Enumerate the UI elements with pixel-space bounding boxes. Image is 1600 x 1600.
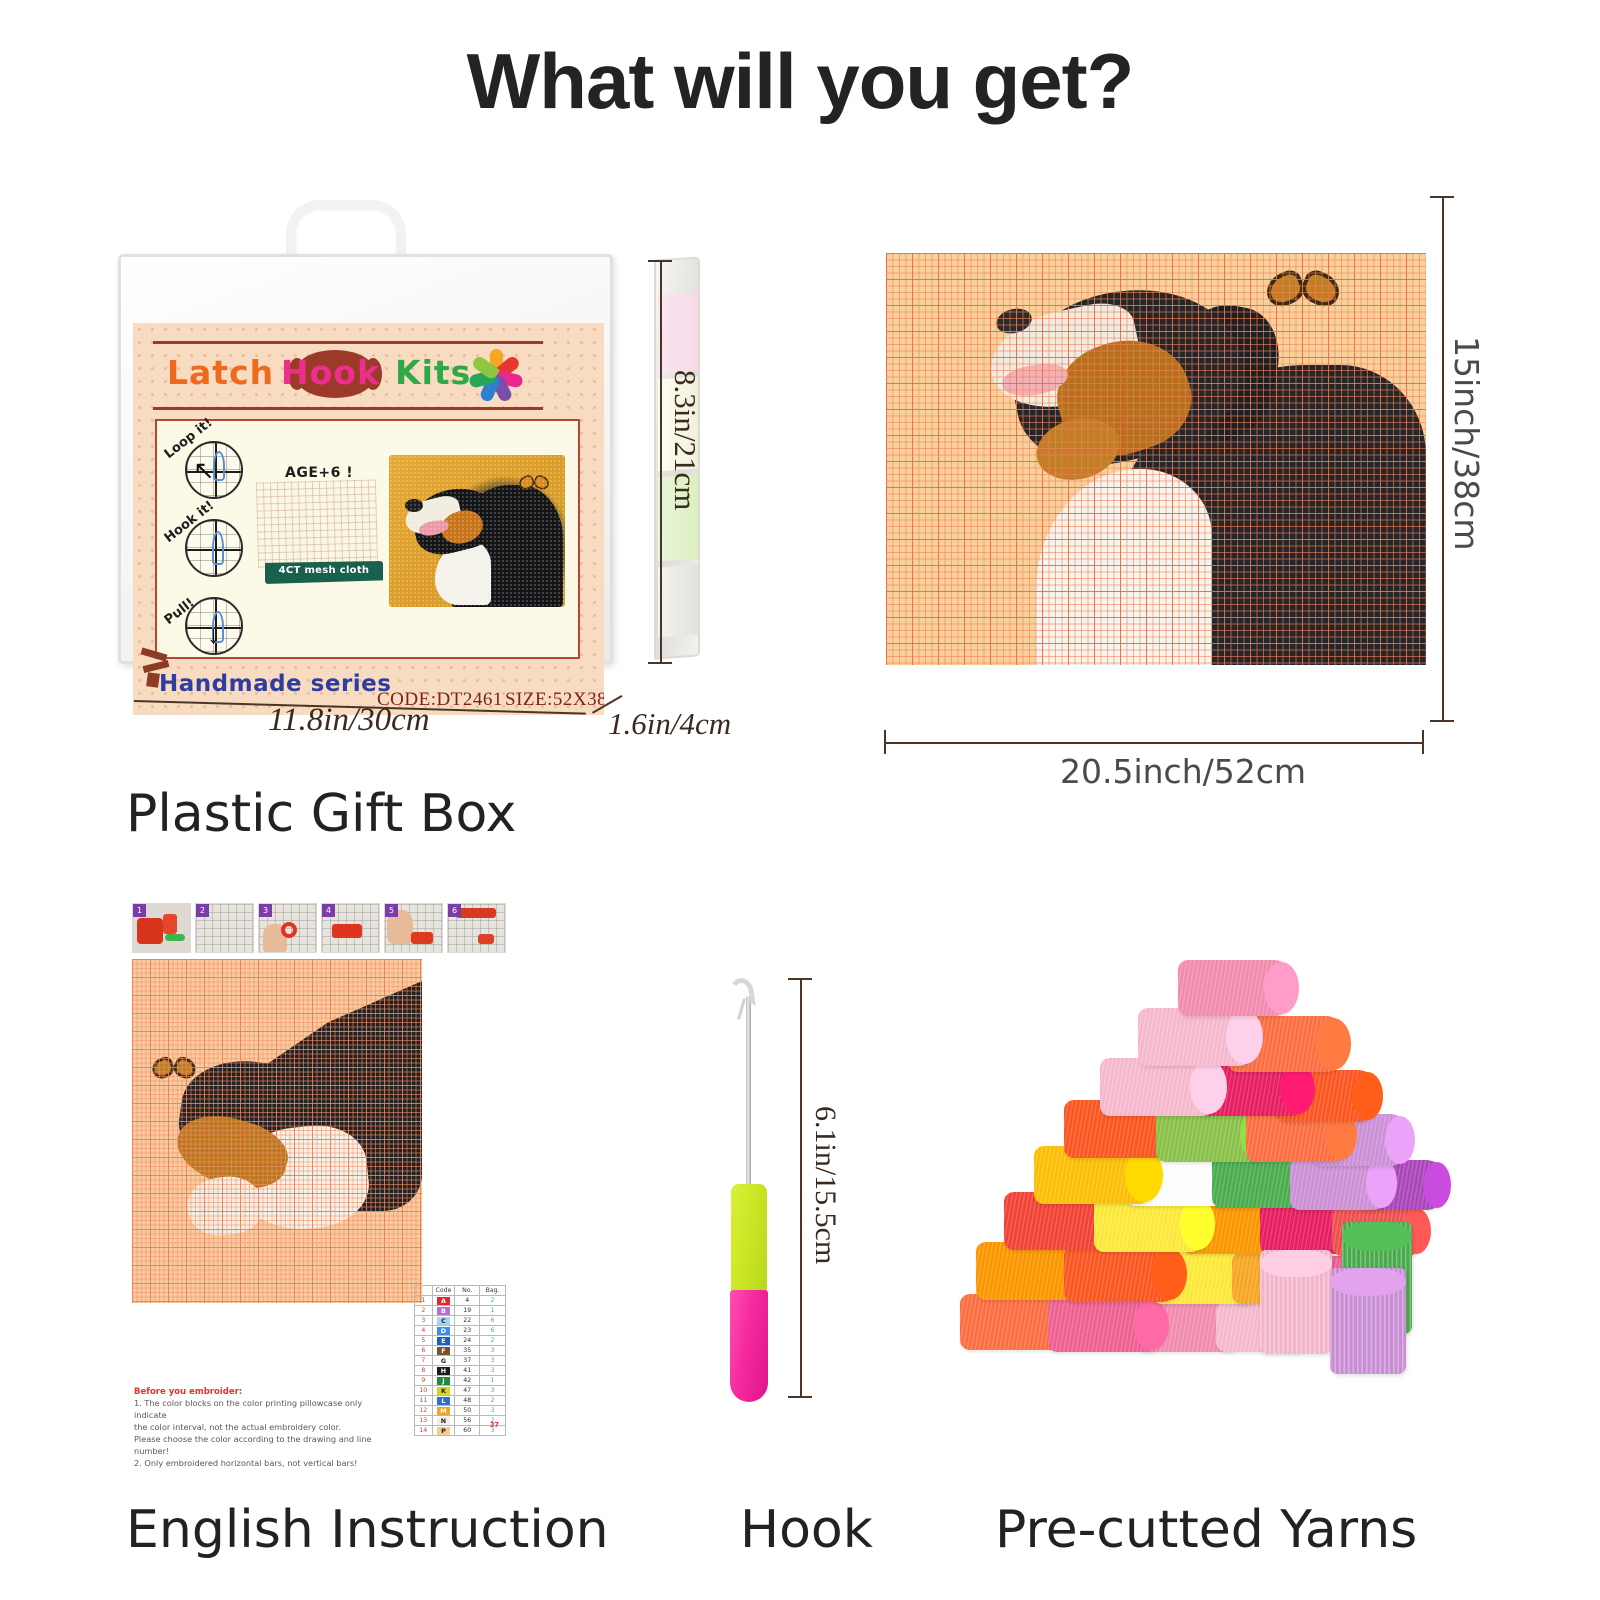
table-row: 7G373 — [415, 1356, 506, 1366]
cell-bag: 2 — [480, 1396, 506, 1406]
yarn-bundle — [1100, 1058, 1224, 1116]
cell-code: M — [432, 1406, 455, 1416]
yarn-bundle-standing — [1260, 1250, 1332, 1354]
pre-cutted-yarns-image — [960, 950, 1450, 1400]
cell-index: 4 — [415, 1326, 433, 1336]
color-code-table: Code No. Bag. 1A422B1913C2264D2365E2426F… — [414, 1285, 506, 1436]
dim-line-box-height — [660, 260, 662, 664]
cell-code: F — [432, 1346, 455, 1356]
dim-cap — [884, 730, 886, 754]
thumbnail-number: 6 — [448, 904, 461, 917]
dim-text-box-width: 11.8in/30cm — [268, 702, 430, 739]
cell-code: J — [432, 1376, 455, 1386]
box-cover-artwork: Latch Hook Kits Loop it! — [133, 323, 604, 715]
cell-index: 2 — [415, 1306, 433, 1316]
hook-grip-lower — [730, 1290, 768, 1402]
step-thumbnail-strip: 1 2 3 4 — [132, 903, 506, 955]
step-diagram-hook — [185, 519, 243, 577]
instruction-pattern-chart — [132, 959, 422, 1303]
yarn-bundle-standing — [1330, 1268, 1406, 1374]
step-thumbnail: 4 — [321, 903, 380, 953]
cell-code: E — [432, 1336, 455, 1346]
cell-index: 8 — [415, 1366, 433, 1376]
table-row: 1A42 — [415, 1296, 506, 1306]
cell-code: A — [432, 1296, 455, 1306]
product-size-text: SIZE:52X38CM — [505, 689, 604, 711]
step-diagram-loop: ↖ — [185, 441, 243, 499]
cell-index: 12 — [415, 1406, 433, 1416]
cover-inner-panel: Loop it! ↖ Hook it! Pull! — [155, 419, 580, 659]
dim-text-box-height: 8.3in/21cm — [667, 370, 703, 510]
th-number: No. — [455, 1286, 480, 1296]
cell-number: 22 — [455, 1316, 480, 1326]
table-row: 8H413 — [415, 1366, 506, 1376]
cell-bag: 1 — [480, 1306, 506, 1316]
cell-index: 10 — [415, 1386, 433, 1396]
cell-bag: 6 — [480, 1326, 506, 1336]
spine-band — [658, 565, 698, 638]
mesh-ribbon-label: 4CT mesh cloth — [265, 565, 383, 576]
printed-canvas-image — [886, 253, 1426, 665]
cell-bag: 3 — [480, 1386, 506, 1396]
divider-rule — [153, 407, 543, 410]
notes-line: Please choose the color according to the… — [134, 1434, 386, 1458]
infographic-root: What will you get? Latch Hook Kits — [0, 0, 1600, 1600]
cell-bag: 3 — [480, 1346, 506, 1356]
table-row: 5E242 — [415, 1336, 506, 1346]
th-bag: Bag. — [480, 1286, 506, 1296]
table-row: 10K473 — [415, 1386, 506, 1396]
dim-cap — [648, 260, 672, 262]
notes-line: 2. Only embroidered horizontal bars, not… — [134, 1458, 386, 1470]
step-thumbnail: 1 — [132, 903, 191, 953]
page-title: What will you get? — [0, 36, 1600, 127]
label-plastic-gift-box: Plastic Gift Box — [126, 784, 516, 844]
cell-number: 47 — [455, 1386, 480, 1396]
cell-number: 4 — [455, 1296, 480, 1306]
step-thumbnail: 2 — [195, 903, 254, 953]
logo-word-kits: Kits — [395, 353, 471, 392]
step-thumbnail: 3 — [258, 903, 317, 953]
cell-bag: 2 — [480, 1336, 506, 1346]
logo-word-hook: Hook — [281, 353, 380, 392]
table-row: 2B191 — [415, 1306, 506, 1316]
cell-number: 48 — [455, 1396, 480, 1406]
cell-number: 42 — [455, 1376, 480, 1386]
cell-code: G — [432, 1356, 455, 1366]
cell-code: D — [432, 1326, 455, 1336]
thumbnail-number: 4 — [322, 904, 335, 917]
table-row: 6F353 — [415, 1346, 506, 1356]
spine-band — [658, 293, 698, 374]
yarn-bundle — [1064, 1246, 1184, 1302]
thumbnail-number: 3 — [259, 904, 272, 917]
cell-code: B — [432, 1306, 455, 1316]
cell-code: H — [432, 1366, 455, 1376]
cell-index: 11 — [415, 1396, 433, 1406]
thumbnail-number: 5 — [385, 904, 398, 917]
cell-index: 3 — [415, 1316, 433, 1326]
step-diagram-pull: ↓ — [185, 597, 243, 655]
cell-code: C — [432, 1316, 455, 1326]
thumbnail-number: 1 — [133, 904, 146, 917]
cell-code: L — [432, 1396, 455, 1406]
label-english-instruction: English Instruction — [126, 1500, 609, 1560]
table-row: 9J421 — [415, 1376, 506, 1386]
hook-grip-upper — [731, 1184, 767, 1292]
cell-number: 41 — [455, 1366, 480, 1376]
label-hook: Hook — [740, 1500, 873, 1560]
cell-index: 7 — [415, 1356, 433, 1366]
cell-number: 24 — [455, 1336, 480, 1346]
step-thumbnail: 6 — [447, 903, 506, 953]
dim-cap — [788, 978, 812, 980]
english-instruction-image: 1 2 3 4 — [126, 903, 506, 1483]
cell-bag: 2 — [480, 1296, 506, 1306]
hook-shaft — [746, 996, 751, 1194]
cell-bag: 6 — [480, 1316, 506, 1326]
yarn-bundle — [1048, 1298, 1166, 1352]
dim-cap — [1430, 196, 1454, 198]
dim-cap — [648, 662, 672, 664]
dim-cap — [1430, 720, 1454, 722]
cell-bag: 3 — [480, 1356, 506, 1366]
divider-rule — [153, 341, 543, 344]
cell-index: 6 — [415, 1346, 433, 1356]
cell-index: 9 — [415, 1376, 433, 1386]
cell-index: 5 — [415, 1336, 433, 1346]
logo-word-latch: Latch — [167, 353, 274, 392]
cell-bag: 1 — [480, 1376, 506, 1386]
dim-line-canvas-width — [884, 742, 1424, 744]
cell-number: 37 — [455, 1356, 480, 1366]
table-row: 4D236 — [415, 1326, 506, 1336]
table-row: 3C226 — [415, 1316, 506, 1326]
series-text: Handmade series — [159, 671, 391, 697]
dim-cap — [788, 1396, 812, 1398]
box-body: Latch Hook Kits Loop it! — [118, 254, 613, 664]
mesh-ribbon-banner: 4CT mesh cloth — [265, 561, 383, 584]
dim-line-canvas-height — [1442, 196, 1444, 722]
notes-line: the color interval, not the actual embro… — [134, 1422, 386, 1434]
instruction-notes: Before you embroider: 1. The color block… — [134, 1387, 386, 1470]
th-index — [415, 1286, 433, 1296]
th-code: Code — [432, 1286, 455, 1296]
dim-cap — [1422, 730, 1424, 754]
color-code-total: 37 — [414, 1421, 506, 1429]
box-handle — [286, 200, 406, 262]
label-pre-cutted-yarns: Pre-cutted Yarns — [995, 1500, 1417, 1560]
notes-line: 1. The color blocks on the color printin… — [134, 1398, 386, 1422]
cell-code: K — [432, 1386, 455, 1396]
table-row: 12M503 — [415, 1406, 506, 1416]
cell-bag: 3 — [480, 1406, 506, 1416]
dim-text-canvas-height: 15inch/38cm — [1447, 336, 1486, 551]
cell-bag: 3 — [480, 1366, 506, 1376]
dim-text-hook-length: 6.1in/15.5cm — [808, 1106, 842, 1264]
yarn-bundle — [1178, 960, 1296, 1016]
step-thumbnail: 5 — [384, 903, 443, 953]
dim-text-box-depth: 1.6in/4cm — [608, 706, 731, 742]
notes-heading: Before you embroider: — [134, 1387, 386, 1397]
cell-number: 19 — [455, 1306, 480, 1316]
age-recommendation-text: AGE+6 ! — [285, 465, 353, 481]
gift-box-image: Latch Hook Kits Loop it! — [118, 198, 658, 668]
dim-line-hook-length — [800, 978, 802, 1398]
yarn-bundle — [1138, 1008, 1260, 1066]
cell-number: 50 — [455, 1406, 480, 1416]
cell-number: 23 — [455, 1326, 480, 1336]
cell-number: 35 — [455, 1346, 480, 1356]
table-row: 11L482 — [415, 1396, 506, 1406]
cell-index: 1 — [415, 1296, 433, 1306]
thumbnail-number: 2 — [196, 904, 209, 917]
table-header-row: Code No. Bag. — [415, 1286, 506, 1296]
dim-text-canvas-width: 20.5inch/52cm — [1060, 752, 1306, 791]
finished-rug-photo — [389, 455, 565, 607]
mesh-cloth-swatch — [256, 479, 378, 568]
latch-hook-tool-image — [700, 972, 796, 1402]
pinwheel-logo-icon — [463, 345, 525, 407]
